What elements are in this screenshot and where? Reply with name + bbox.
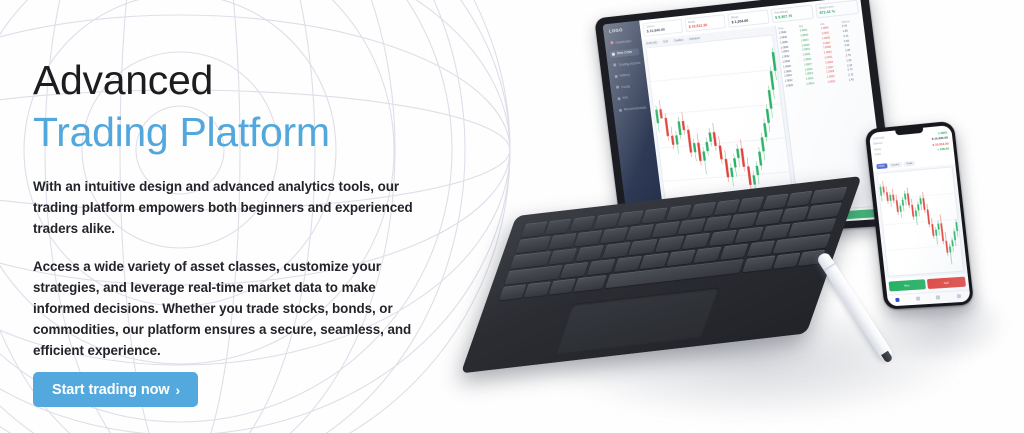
key[interactable]	[690, 202, 716, 218]
nav-profile-icon[interactable]	[957, 294, 961, 298]
key[interactable]	[729, 212, 757, 228]
key[interactable]	[781, 206, 809, 222]
key[interactable]	[629, 239, 658, 255]
key[interactable]	[762, 194, 788, 210]
sidebar-item-funds[interactable]: Funds	[614, 82, 644, 92]
cell-price: 1.0820	[785, 83, 804, 88]
key[interactable]	[602, 242, 631, 258]
stat-card: Equity $ 10,512.30	[684, 14, 726, 32]
indicators-pill[interactable]: Indicators	[687, 36, 702, 42]
key[interactable]	[587, 259, 616, 275]
nav-trade-icon[interactable]	[936, 295, 940, 299]
key[interactable]	[618, 210, 644, 226]
sidebar-item-label: History	[620, 73, 630, 78]
cell-ask: 1.0821	[827, 79, 847, 84]
stat-card: Balance $ 10,840.00	[642, 19, 683, 37]
key[interactable]	[548, 233, 576, 249]
key[interactable]	[746, 240, 775, 256]
sidebar-item-recommendations[interactable]: Recommendations	[617, 104, 647, 114]
key[interactable]	[600, 227, 628, 243]
ctrl-key[interactable]	[524, 281, 551, 297]
nav-home-icon[interactable]	[895, 297, 899, 301]
key[interactable]	[720, 243, 749, 259]
hero-paragraph-2: Access a wide variety of asset classes, …	[33, 256, 413, 361]
sidebar-item-label: Info	[623, 96, 629, 100]
key[interactable]	[678, 218, 706, 234]
symbol-pill[interactable]: EUR/USD	[644, 40, 659, 46]
tab-trade[interactable]: Trade	[903, 161, 915, 167]
key[interactable]	[626, 224, 654, 240]
sidebar-item-history[interactable]: History	[612, 70, 642, 80]
cell-volume: 1.45	[849, 77, 869, 82]
stat-card: Margin $ 1,204.60	[727, 9, 770, 27]
start-trading-label: Start trading now	[52, 382, 170, 398]
tab-quotes[interactable]: Quotes	[889, 162, 902, 168]
key[interactable]	[755, 209, 783, 225]
quote-label: EUR/USD	[873, 136, 885, 141]
charttype-pill[interactable]: Candles	[672, 37, 685, 43]
key[interactable]	[762, 223, 791, 239]
fn-key[interactable]	[499, 284, 526, 300]
key[interactable]	[714, 199, 740, 215]
quote-value: 1.0842	[938, 130, 948, 135]
key[interactable]	[642, 207, 668, 223]
new-order-icon	[612, 52, 615, 55]
quote-value: $ 10,840.00	[932, 136, 948, 142]
key[interactable]	[574, 230, 602, 246]
key[interactable]	[666, 205, 692, 221]
command-key[interactable]	[573, 275, 607, 292]
nav-chart-icon[interactable]	[915, 296, 919, 300]
tablet-nav: Dashboard New Order Trading Accounts	[608, 37, 647, 114]
history-icon	[615, 75, 618, 78]
key[interactable]	[703, 215, 731, 231]
order-book-rows: 1.08421.08411.08432.401.08401.08391.0841…	[777, 22, 871, 89]
tablet-logo: LOGO	[607, 26, 637, 34]
key[interactable]	[807, 202, 842, 219]
quote-label: Equity	[874, 148, 881, 153]
sidebar-item-label: Trading Accounts	[618, 60, 641, 66]
device-composition: LOGO Dashboard New Order Trading Acco	[505, 0, 1024, 433]
key[interactable]	[667, 250, 696, 266]
key[interactable]	[682, 233, 711, 249]
candlestick-svg	[877, 167, 963, 275]
info-icon	[617, 97, 620, 100]
key[interactable]	[640, 253, 669, 269]
sidebar-item-label: Funds	[621, 84, 630, 89]
cell-bid: 1.0819	[806, 81, 825, 86]
quote-label: Profit	[875, 153, 881, 157]
tab-chart[interactable]: Chart	[876, 163, 887, 169]
phone-candlestick-chart[interactable]	[876, 166, 964, 276]
timeframe-pill[interactable]: M15	[661, 39, 670, 44]
key[interactable]	[738, 196, 764, 212]
quote-label: Balance	[873, 142, 883, 147]
key[interactable]	[655, 236, 684, 252]
hero-section: Advanced Trading Platform With an intuit…	[0, 0, 1024, 433]
accounts-icon	[613, 64, 616, 67]
sidebar-item-label: Dashboard	[615, 39, 631, 45]
chevron-right-icon: ›	[176, 383, 181, 397]
key[interactable]	[708, 230, 737, 246]
key[interactable]	[593, 213, 619, 229]
buy-button[interactable]: Buy	[888, 279, 926, 291]
phone-device: EUR/USD 1.0842 Balance $ 10,840.00 Equit…	[865, 121, 975, 310]
quote-value: $ 10,512.30	[932, 141, 948, 147]
key[interactable]	[521, 221, 547, 237]
key[interactable]	[652, 221, 680, 237]
recommendations-icon	[619, 108, 622, 111]
key[interactable]	[786, 191, 812, 207]
sidebar-item-label: Recommendations	[624, 105, 647, 111]
hero-paragraph-1: With an intuitive design and advanced an…	[33, 176, 413, 239]
page-title-line1: Advanced	[33, 56, 413, 105]
option-key[interactable]	[549, 279, 576, 295]
quote-value: + 128.40	[937, 147, 949, 152]
dashboard-icon	[610, 41, 613, 44]
sell-button[interactable]: Sell	[927, 277, 966, 289]
option-key-right[interactable]	[774, 252, 801, 268]
key[interactable]	[613, 256, 642, 272]
key[interactable]	[693, 246, 722, 262]
key[interactable]	[560, 262, 589, 278]
sidebar-item-info[interactable]: Info	[615, 93, 645, 103]
stat-card: Margin Level 872.41 %	[815, 0, 859, 18]
stat-card: Free Margin $ 9,307.70	[770, 5, 814, 24]
command-key-right[interactable]	[742, 255, 776, 272]
page-title-line2: Trading Platform	[33, 107, 413, 157]
hero-copy: Advanced Trading Platform With an intuit…	[33, 56, 413, 374]
key[interactable]	[569, 216, 595, 232]
tab-key[interactable]	[516, 236, 551, 253]
start-trading-button[interactable]: Start trading now ›	[33, 372, 198, 407]
key[interactable]	[549, 248, 578, 264]
key[interactable]	[545, 219, 571, 235]
sidebar-item-trading-accounts[interactable]: Trading Accounts	[611, 59, 641, 69]
sidebar-item-new-order[interactable]: New Order	[610, 48, 640, 58]
funds-icon	[616, 86, 619, 89]
key[interactable]	[735, 227, 764, 243]
key[interactable]	[575, 245, 604, 261]
sidebar-item-dashboard[interactable]: Dashboard	[608, 37, 638, 47]
sidebar-item-label: New Order	[617, 50, 633, 55]
